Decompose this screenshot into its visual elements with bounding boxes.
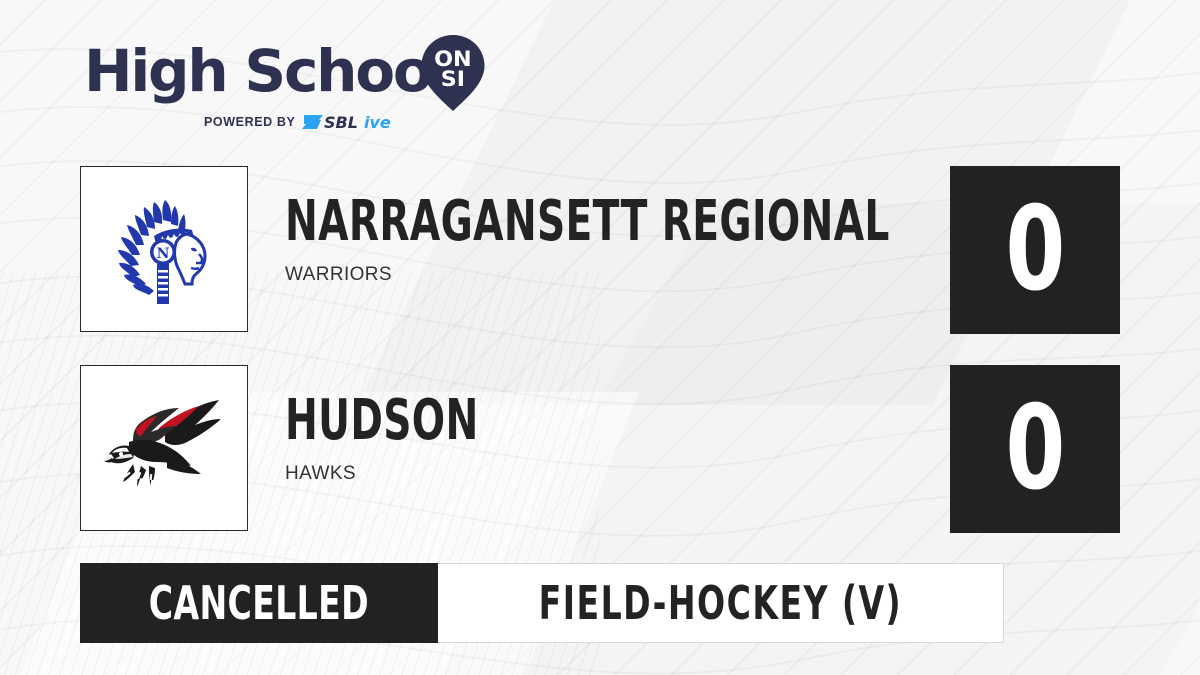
team-score-box: 0 [950, 166, 1120, 334]
team-score-value: 0 [1005, 391, 1065, 507]
medallion-letter: N [157, 246, 170, 262]
on-si-pin-icon: ON SI [420, 34, 486, 112]
sblive-wordmark-dark: SBL [324, 113, 358, 132]
powered-by-block: POWERED BY SBL ive [204, 112, 406, 132]
team-score-box: 0 [950, 365, 1120, 533]
sblive-logo-icon: SBL ive [302, 112, 406, 132]
team-logo-box: N [80, 166, 248, 332]
sport-label-box: FIELD-HOCKEY (V) [438, 563, 1004, 643]
team-text-block: HUDSON HAWKS [285, 393, 965, 485]
team-name: NARRAGANSETT REGIONAL [285, 194, 761, 250]
sport-label: FIELD-HOCKEY (V) [538, 580, 901, 626]
pin-label-si: SI [441, 68, 465, 92]
game-status-bar: CANCELLED FIELD-HOCKEY (V) [80, 563, 1004, 643]
team-score-value: 0 [1005, 192, 1065, 308]
powered-by-label: POWERED BY [204, 115, 295, 129]
team-name: HUDSON [285, 393, 761, 449]
status-badge-label: CANCELLED [149, 580, 369, 626]
brand-header: High School ON SI POWERED BY SBL ive [84, 34, 514, 134]
warrior-chief-headdress-icon: N [99, 184, 229, 314]
team-mascot: WARRIORS [285, 264, 965, 286]
team-mascot: HAWKS [285, 463, 965, 485]
status-badge: CANCELLED [80, 563, 438, 643]
team-logo-box [80, 365, 248, 531]
brand-title: High School [84, 42, 448, 100]
hawk-icon [99, 388, 229, 508]
team-text-block: NARRAGANSETT REGIONAL WARRIORS [285, 194, 965, 286]
sblive-wordmark-blue: ive [364, 113, 391, 132]
